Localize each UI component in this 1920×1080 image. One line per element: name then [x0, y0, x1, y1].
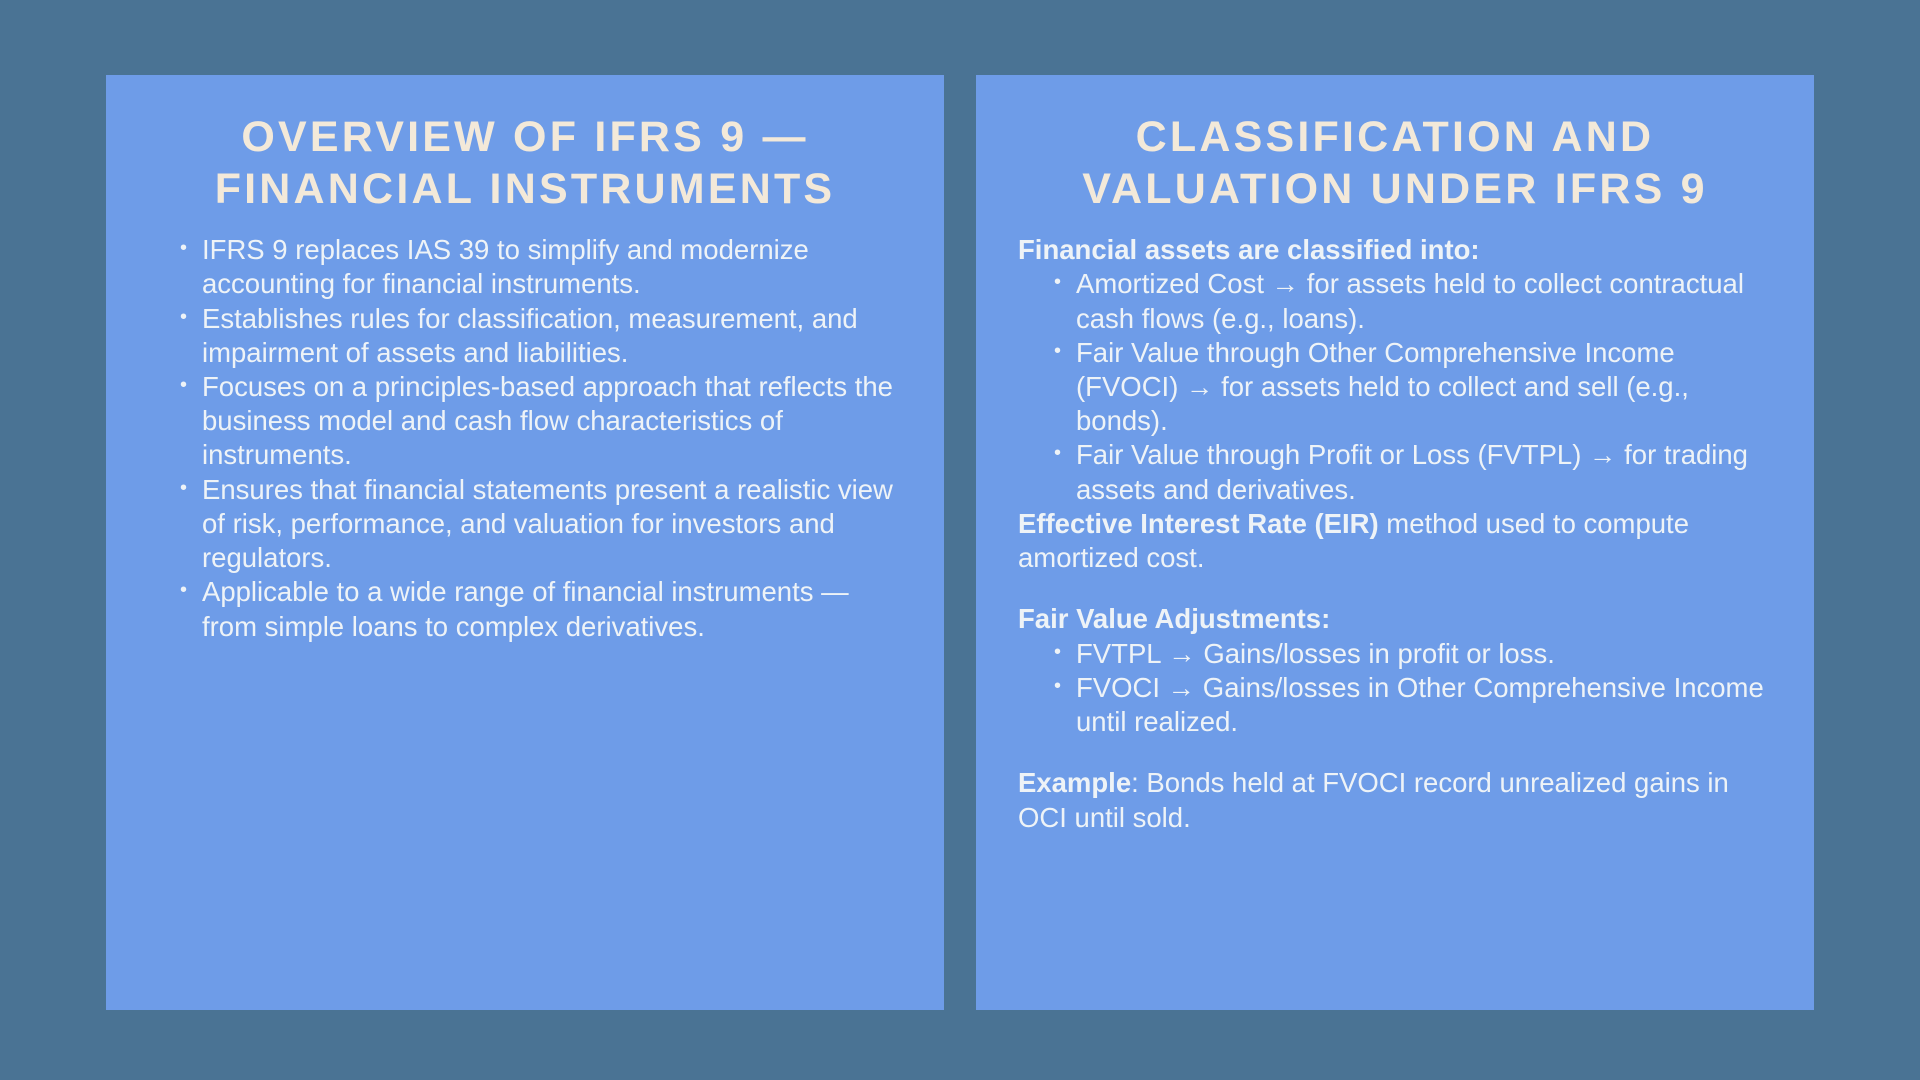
list-item: Fair Value through Other Comprehensive I…	[1054, 336, 1772, 439]
list-item: Focuses on a principles-based approach t…	[180, 370, 902, 473]
list-item: Fair Value through Profit or Loss (FVTPL…	[1054, 438, 1772, 506]
card-classification-valuation: CLASSIFICATION AND VALUATION UNDER IFRS …	[976, 75, 1814, 1010]
fair-value-bullet-list: FVTPL → Gains/losses in profit or loss. …	[1018, 637, 1772, 740]
list-item: Ensures that financial statements presen…	[180, 473, 902, 576]
card-overview-title: OVERVIEW OF IFRS 9 — FINANCIAL INSTRUMEN…	[148, 103, 902, 215]
slide-root: OVERVIEW OF IFRS 9 — FINANCIAL INSTRUMEN…	[0, 0, 1920, 1080]
section-spacer	[1018, 739, 1772, 766]
card-classification-title: CLASSIFICATION AND VALUATION UNDER IFRS …	[1018, 103, 1772, 215]
example-paragraph: Example: Bonds held at FVOCI record unre…	[1018, 766, 1772, 834]
classification-lead: Financial assets are classified into:	[1018, 233, 1772, 267]
eir-paragraph: Effective Interest Rate (EIR) method use…	[1018, 507, 1772, 575]
list-item: Amortized Cost → for assets held to coll…	[1054, 267, 1772, 335]
overview-bullet-list: IFRS 9 replaces IAS 39 to simplify and m…	[148, 233, 902, 644]
classification-bullet-list: Amortized Cost → for assets held to coll…	[1018, 267, 1772, 507]
card-overview-ifrs9: OVERVIEW OF IFRS 9 — FINANCIAL INSTRUMEN…	[106, 75, 944, 1010]
fair-value-adjustments-lead: Fair Value Adjustments:	[1018, 602, 1772, 636]
list-item: IFRS 9 replaces IAS 39 to simplify and m…	[180, 233, 902, 301]
list-item: FVTPL → Gains/losses in profit or loss.	[1054, 637, 1772, 671]
section-spacer	[1018, 575, 1772, 602]
eir-label: Effective Interest Rate (EIR)	[1018, 508, 1379, 539]
list-item: Applicable to a wide range of financial …	[180, 575, 902, 643]
list-item: FVOCI → Gains/losses in Other Comprehens…	[1054, 671, 1772, 739]
example-label: Example	[1018, 767, 1131, 798]
list-item: Establishes rules for classification, me…	[180, 302, 902, 370]
